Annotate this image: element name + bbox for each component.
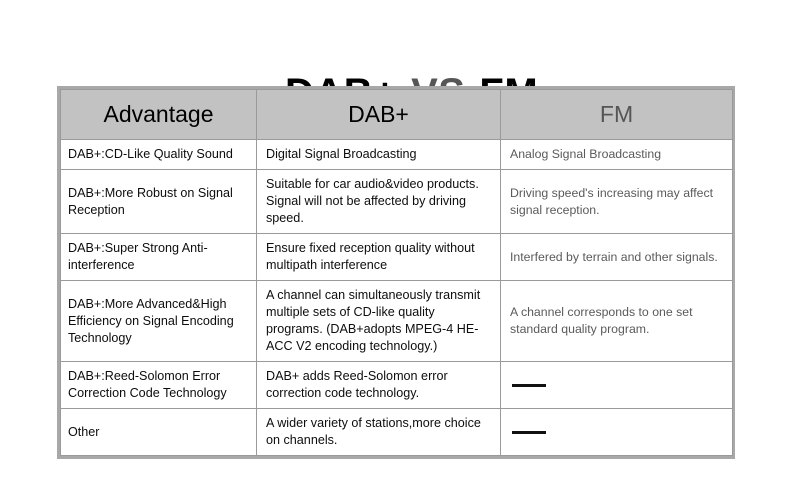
table-row: Other A wider variety of stations,more c… <box>61 409 733 456</box>
column-header-fm: FM <box>501 90 733 140</box>
table-row: DAB+:Reed-Solomon Error Correction Code … <box>61 362 733 409</box>
column-header-advantage: Advantage <box>61 90 257 140</box>
dab-text: A wider variety of stations,more choice … <box>266 415 492 449</box>
cell-dab: Ensure fixed reception quality without m… <box>257 234 501 281</box>
fm-text: A channel corresponds to one set standar… <box>510 304 724 338</box>
cell-advantage: Other <box>61 409 257 456</box>
cell-advantage: DAB+:More Advanced&High Efficiency on Si… <box>61 281 257 362</box>
cell-fm: A channel corresponds to one set standar… <box>501 281 733 362</box>
cell-advantage: DAB+:CD-Like Quality Sound <box>61 140 257 170</box>
cell-dab: Digital Signal Broadcasting <box>257 140 501 170</box>
advantage-text: DAB+:Super Strong Anti-interference <box>68 240 251 274</box>
cell-advantage: DAB+:Reed-Solomon Error Correction Code … <box>61 362 257 409</box>
cell-fm: Analog Signal Broadcasting <box>501 140 733 170</box>
dab-text: Digital Signal Broadcasting <box>266 146 492 163</box>
cell-fm <box>501 409 733 456</box>
cell-dab: Suitable for car audio&video products. S… <box>257 170 501 234</box>
not-applicable-dash-icon <box>512 431 546 434</box>
cell-dab: A wider variety of stations,more choice … <box>257 409 501 456</box>
cell-dab: A channel can simultaneously transmit mu… <box>257 281 501 362</box>
dab-text: Suitable for car audio&video products. S… <box>266 176 492 227</box>
table-body: DAB+:CD-Like Quality Sound Digital Signa… <box>61 140 733 456</box>
fm-text: Analog Signal Broadcasting <box>510 146 724 163</box>
table-row: DAB+:CD-Like Quality Sound Digital Signa… <box>61 140 733 170</box>
fm-text: Interfered by terrain and other signals. <box>510 249 724 266</box>
advantage-text: Other <box>68 424 251 441</box>
cell-fm: Interfered by terrain and other signals. <box>501 234 733 281</box>
table-row: DAB+:More Advanced&High Efficiency on Si… <box>61 281 733 362</box>
advantage-text: DAB+:More Advanced&High Efficiency on Si… <box>68 296 251 347</box>
comparison-table-frame: Advantage DAB+ FM DAB+:CD-Like Quality S… <box>57 86 735 459</box>
dab-text: Ensure fixed reception quality without m… <box>266 240 492 274</box>
column-header-dab: DAB+ <box>257 90 501 140</box>
cell-advantage: DAB+:Super Strong Anti-interference <box>61 234 257 281</box>
dab-text: DAB+ adds Reed-Solomon error correction … <box>266 368 492 402</box>
cell-advantage: DAB+:More Robust on Signal Reception <box>61 170 257 234</box>
not-applicable-dash-icon <box>512 384 546 387</box>
fm-text: Driving speed's increasing may affect si… <box>510 185 724 219</box>
advantage-text: DAB+:More Robust on Signal Reception <box>68 185 251 219</box>
table-row: DAB+:More Robust on Signal Reception Sui… <box>61 170 733 234</box>
cell-dab: DAB+ adds Reed-Solomon error correction … <box>257 362 501 409</box>
cell-fm <box>501 362 733 409</box>
table-row: DAB+:Super Strong Anti-interference Ensu… <box>61 234 733 281</box>
table-header: Advantage DAB+ FM <box>61 90 733 140</box>
comparison-table: Advantage DAB+ FM DAB+:CD-Like Quality S… <box>60 89 733 456</box>
cell-fm: Driving speed's increasing may affect si… <box>501 170 733 234</box>
dab-text: A channel can simultaneously transmit mu… <box>266 287 492 355</box>
advantage-text: DAB+:CD-Like Quality Sound <box>68 146 251 163</box>
advantage-text: DAB+:Reed-Solomon Error Correction Code … <box>68 368 251 402</box>
table-header-row: Advantage DAB+ FM <box>61 90 733 140</box>
